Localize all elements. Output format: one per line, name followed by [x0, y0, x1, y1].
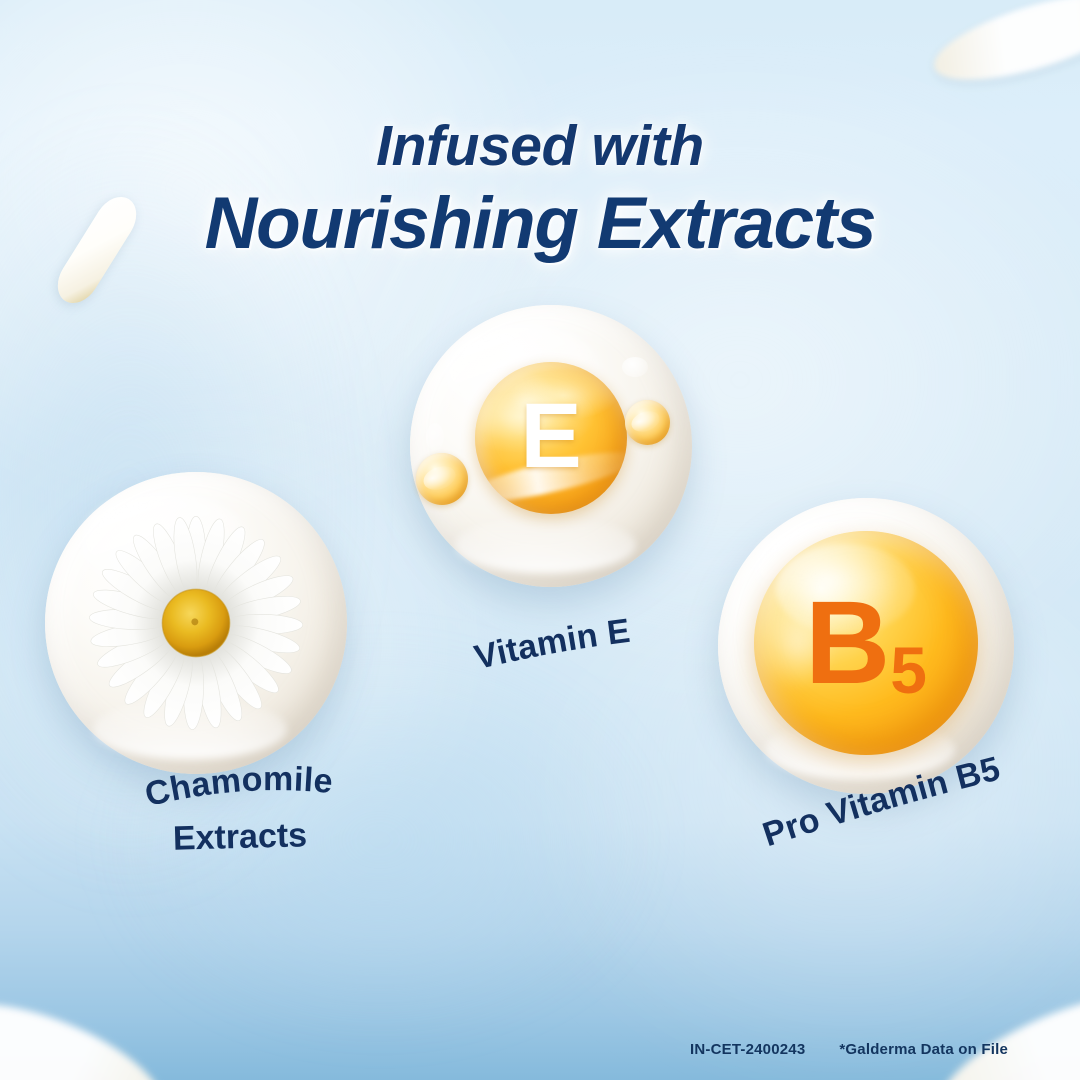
ingredient-label-chamomile-line-1: Chamomile [141, 760, 334, 814]
footer: IN-CET-2400243 *Galderma Data on File [0, 1041, 1080, 1058]
chamomile-daisy-flower-icon [80, 507, 312, 739]
b5-symbol-group: B 5 [754, 531, 978, 755]
headline-line-1: Infused with [0, 118, 1080, 175]
cream-bubble-icon-c [426, 423, 444, 451]
footer-reference-code: IN-CET-2400243 [690, 1041, 805, 1058]
gold-droplet-icon-right [625, 400, 670, 445]
gold-droplet-icon-left [416, 453, 468, 505]
vitamin-e-symbol: E [475, 362, 627, 514]
ingredient-label-vitamin-e: Vitamin E [430, 618, 680, 698]
ingredient-label-pro-vitamin-b5-text: Pro Vitamin B5 [758, 750, 1004, 855]
floating-petal-icon-bottom-left [0, 978, 178, 1080]
ingredient-blob-chamomile[interactable] [45, 472, 347, 774]
ingredient-blob-vitamin-e[interactable]: E [410, 305, 692, 587]
ingredient-blob-pro-vitamin-b5[interactable]: B 5 [718, 498, 1014, 794]
ingredient-label-pro-vitamin-b5: Pro Vitamin B5 [730, 760, 1040, 870]
vitamin-e-gold-sphere-icon: E [475, 362, 627, 514]
floating-petal-icon-bottom-right [923, 969, 1080, 1080]
ingredient-label-vitamin-e-text: Vitamin E [471, 612, 632, 677]
footer-data-source-note: *Galderma Data on File [839, 1041, 1008, 1058]
headline: Infused with Nourishing Extracts [0, 118, 1080, 260]
ingredient-infographic-poster: Infused with Nourishing Extracts [0, 0, 1080, 1080]
vitamin-b5-gold-sphere-icon: B 5 [754, 531, 978, 755]
headline-line-2: Nourishing Extracts [0, 187, 1080, 260]
floating-petal-icon-top-right [926, 0, 1080, 97]
b5-letter: B [805, 584, 888, 702]
b5-subscript: 5 [890, 637, 927, 703]
